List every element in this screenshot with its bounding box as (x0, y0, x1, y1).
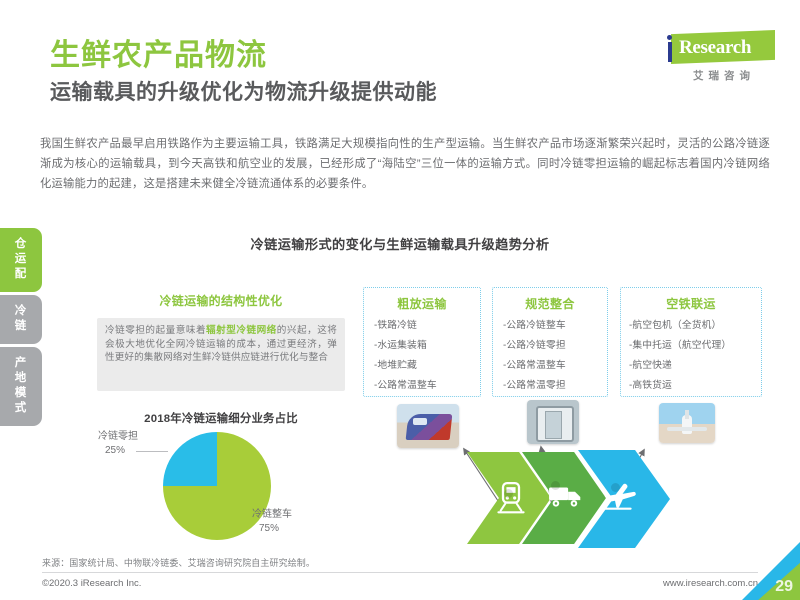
train-icon (497, 482, 525, 514)
slide-root: 生鲜农产品物流 运输载具的升级优化为物流升级提供动能 我国生鲜农产品最早启用铁路… (0, 0, 800, 600)
chevron-air (578, 450, 670, 548)
plane-wing-icon (667, 427, 707, 431)
cargo-plane-photo (659, 403, 715, 443)
sidebar-item-lenglian[interactable]: 冷 链 (0, 295, 42, 344)
stage-item: -公路冷链整车 (493, 320, 607, 332)
optimization-title: 冷链运输的结构性优化 (96, 292, 346, 309)
stage-item: -高铁货运 (621, 380, 761, 392)
stage-item: -航空快递 (621, 360, 761, 372)
logo-i-bar-icon (668, 42, 672, 62)
logo-chinese-name: 艾瑞咨询 (673, 68, 775, 83)
stage-item: -水运集装箱 (364, 340, 480, 352)
optimization-note-box: 冷链零担的起量意味着辐射型冷链网络的兴起，这将会极大地优化全网冷链运输的成本，通… (97, 318, 345, 391)
pie-leader-line (136, 451, 168, 452)
stage-title: 空铁联运 (621, 295, 761, 312)
stage-box-cufangyunshu: 粗放运输 -铁路冷链 -水运集装箱 -地堆贮藏 -公路常温整车 (363, 287, 481, 397)
pie-label-lingdan: 冷链零担 25% (98, 430, 138, 458)
pie-chart-title: 2018年冷链运输细分业务占比 (96, 410, 346, 426)
sidebar-item-label: 模 (0, 386, 42, 401)
note-highlight: 辐射型冷链网络 (206, 325, 277, 336)
stage-title: 粗放运输 (364, 295, 480, 312)
stage-item: -集中托运（航空代理） (621, 340, 761, 352)
sidebar-item-label: 式 (0, 401, 42, 416)
chart-card-title: 冷链运输形式的变化与生鲜运输载具升级趋势分析 (0, 234, 800, 253)
sidebar-item-label: 链 (0, 319, 42, 334)
intro-paragraph: 我国生鲜农产品最早启用铁路作为主要运输工具，铁路满足大规模指向性的生产型运输。当… (40, 134, 770, 194)
pie-label-value: 25% (98, 444, 138, 458)
stage-item: -航空包机（全货机） (621, 320, 761, 332)
copyright: ©2020.3 iResearch Inc. (42, 578, 141, 589)
sidebar-item-label: 冷 (0, 304, 42, 319)
sidebar-item-label: 产 (0, 356, 42, 371)
pie-label-name: 冷链零担 (98, 431, 138, 442)
stage-item: -铁路冷链 (364, 320, 480, 332)
stage-item: -公路常温整车 (364, 380, 480, 392)
source-note: 来源：国家统计局、中物联冷链委、艾瑞咨询研究院自主研究绘制。 (42, 556, 315, 569)
website-url[interactable]: www.iresearch.com.cn (640, 578, 758, 589)
stage-item: -公路常温整车 (493, 360, 607, 372)
logo-wordmark: Research (679, 36, 751, 59)
chevron-knob (551, 481, 560, 490)
sidebar-item-label: 地 (0, 371, 42, 386)
chevron-knob (504, 489, 513, 498)
note-text-before: 冷链零担的起量意味着 (105, 325, 206, 336)
footer-divider (42, 572, 758, 573)
plane-tail-icon (685, 410, 689, 419)
stage-box-kongtielianyun: 空铁联运 -航空包机（全货机） -集中托运（航空代理） -航空快递 -高铁货运 (620, 287, 762, 397)
metro-train-photo (527, 400, 579, 444)
locomotive-window-icon (413, 418, 427, 425)
stage-item: -地堆贮藏 (364, 360, 480, 372)
stage-title: 规范整合 (493, 295, 607, 312)
stage-item: -公路冷链零担 (493, 340, 607, 352)
plane-icon (602, 482, 638, 512)
logo-i-dot-icon (667, 35, 672, 40)
sidebar-item-label: 运 (0, 252, 42, 267)
sidebar-item-chandimoshi[interactable]: 产 地 模 式 (0, 347, 42, 426)
sidebar-item-label: 配 (0, 267, 42, 282)
stage-item: -公路常温零担 (493, 380, 607, 392)
sidebar: 仓 运 配 冷 链 产 地 模 式 (0, 228, 42, 429)
page-title: 生鲜农产品物流 (50, 38, 267, 74)
page-subtitle: 运输载具的升级优化为物流升级提供动能 (50, 80, 437, 106)
metro-door-icon (545, 411, 562, 439)
iresearch-logo: Research 艾瑞咨询 (655, 30, 777, 88)
pie-label-value: 75% (252, 522, 292, 536)
pie-label-zhengche: 冷链整车 75% (252, 508, 292, 536)
pie-label-name: 冷链整车 (252, 509, 292, 520)
chevron-knob (611, 483, 620, 492)
stage-box-guifanzhenghe: 规范整合 -公路冷链整车 -公路冷链零担 -公路常温整车 -公路常温零担 (492, 287, 608, 397)
optimization-note-text: 冷链零担的起量意味着辐射型冷链网络的兴起，这将会极大地优化全网冷链运输的成本，通… (105, 324, 337, 365)
page-number: 29 (775, 578, 793, 596)
